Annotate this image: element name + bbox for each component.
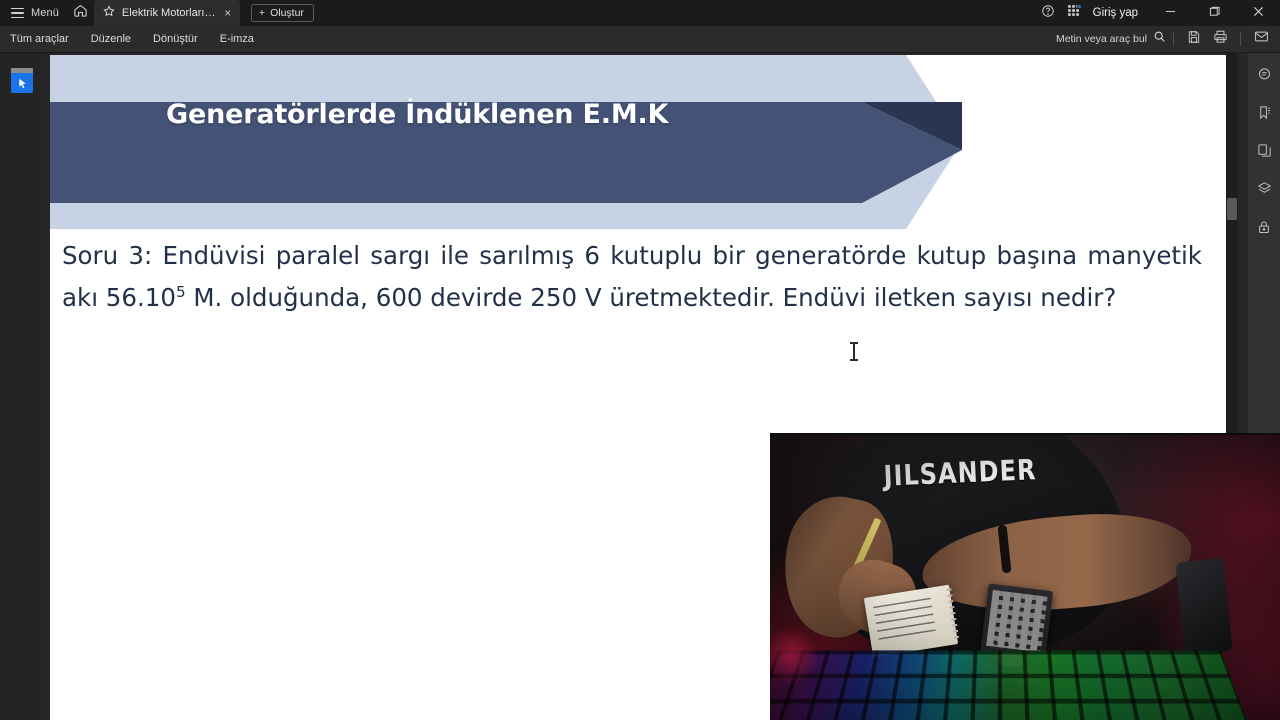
save-floppy-icon: [1187, 30, 1201, 49]
search-icon[interactable]: [1153, 30, 1166, 48]
tool-convert[interactable]: Dönüştür: [142, 26, 209, 53]
divider: [1173, 32, 1174, 46]
exponent: 5: [176, 283, 186, 301]
hamburger-icon: [11, 8, 24, 19]
print-button[interactable]: [1207, 26, 1233, 53]
divider: [1240, 32, 1241, 46]
window-close-button[interactable]: [1236, 0, 1280, 26]
text-cursor: [853, 342, 855, 361]
webcam-vignette: [770, 435, 1280, 720]
apps-badge: [1077, 4, 1082, 9]
question-text[interactable]: Soru 3: Endüvisi paralel sargı ile sarıl…: [62, 235, 1202, 319]
star-icon[interactable]: [103, 4, 115, 22]
title-bar: Menü Elektrik Motorları ve ... × + Oluşt…: [0, 0, 1280, 26]
find-label: Metin veya araç bul: [1056, 33, 1147, 45]
left-tool-rail: [0, 53, 42, 720]
layers-icon: [1257, 181, 1272, 201]
slide-banner: Generatörlerde İndüklenen E.M.K: [50, 55, 1230, 229]
question-part-2: M. olduğunda, 600 devirde 250 V üretmekt…: [186, 283, 1117, 312]
webcam-overlay[interactable]: JILSANDER: [770, 433, 1280, 720]
main-toolbar: Tüm araçlar Düzenle Dönüştür E-imza Meti…: [0, 26, 1280, 53]
pages-copy-icon: [1257, 143, 1272, 163]
help-circle-icon: [1041, 4, 1055, 23]
minimize-icon: [1165, 4, 1176, 22]
toolbar-right-group: Metin veya araç bul: [1056, 26, 1280, 53]
home-icon: [73, 3, 88, 23]
apps-button[interactable]: [1061, 0, 1087, 26]
maximize-button[interactable]: [1192, 0, 1236, 26]
comment-icon: [1257, 67, 1272, 87]
slide-title: Generatörlerde İndüklenen E.M.K: [166, 99, 926, 130]
close-icon[interactable]: ×: [223, 7, 233, 19]
minimize-button[interactable]: [1148, 0, 1192, 26]
lock-icon: [1257, 220, 1271, 239]
tab-title: Elektrik Motorları ve ...: [122, 7, 216, 19]
mail-icon: [1254, 29, 1269, 49]
tool-esign[interactable]: E-imza: [209, 26, 265, 53]
pages-button[interactable]: [1252, 141, 1276, 165]
create-label: Oluştur: [270, 7, 304, 19]
plus-icon: +: [259, 7, 265, 19]
tool-all-tools[interactable]: Tüm araçlar: [0, 26, 80, 53]
close-icon: [1253, 4, 1264, 22]
signin-button[interactable]: Giriş yap: [1087, 7, 1148, 19]
save-button[interactable]: [1181, 26, 1207, 53]
selection-tool-icon: [11, 73, 33, 93]
tool-edit[interactable]: Düzenle: [80, 26, 142, 53]
comment-button[interactable]: [1252, 65, 1276, 89]
mail-button[interactable]: [1248, 26, 1274, 53]
application-window: Menü Elektrik Motorları ve ... × + Oluşt…: [0, 0, 1280, 720]
titlebar-right-group: Giriş yap: [1035, 0, 1280, 26]
print-icon: [1213, 29, 1228, 49]
layers-button[interactable]: [1252, 179, 1276, 203]
scrollbar-thumb[interactable]: [1227, 198, 1237, 220]
bookmark-icon: [1257, 105, 1272, 125]
protect-button[interactable]: [1252, 217, 1276, 241]
menu-button[interactable]: Menü: [0, 0, 68, 26]
menu-label: Menü: [31, 7, 59, 19]
help-button[interactable]: [1035, 0, 1061, 26]
document-tab[interactable]: Elektrik Motorları ve ... ×: [94, 0, 240, 26]
selection-tool-button[interactable]: [10, 68, 34, 94]
create-button[interactable]: + Oluştur: [251, 4, 314, 22]
maximize-icon: [1209, 4, 1220, 22]
bookmark-button[interactable]: [1252, 103, 1276, 127]
home-button[interactable]: [68, 0, 94, 26]
